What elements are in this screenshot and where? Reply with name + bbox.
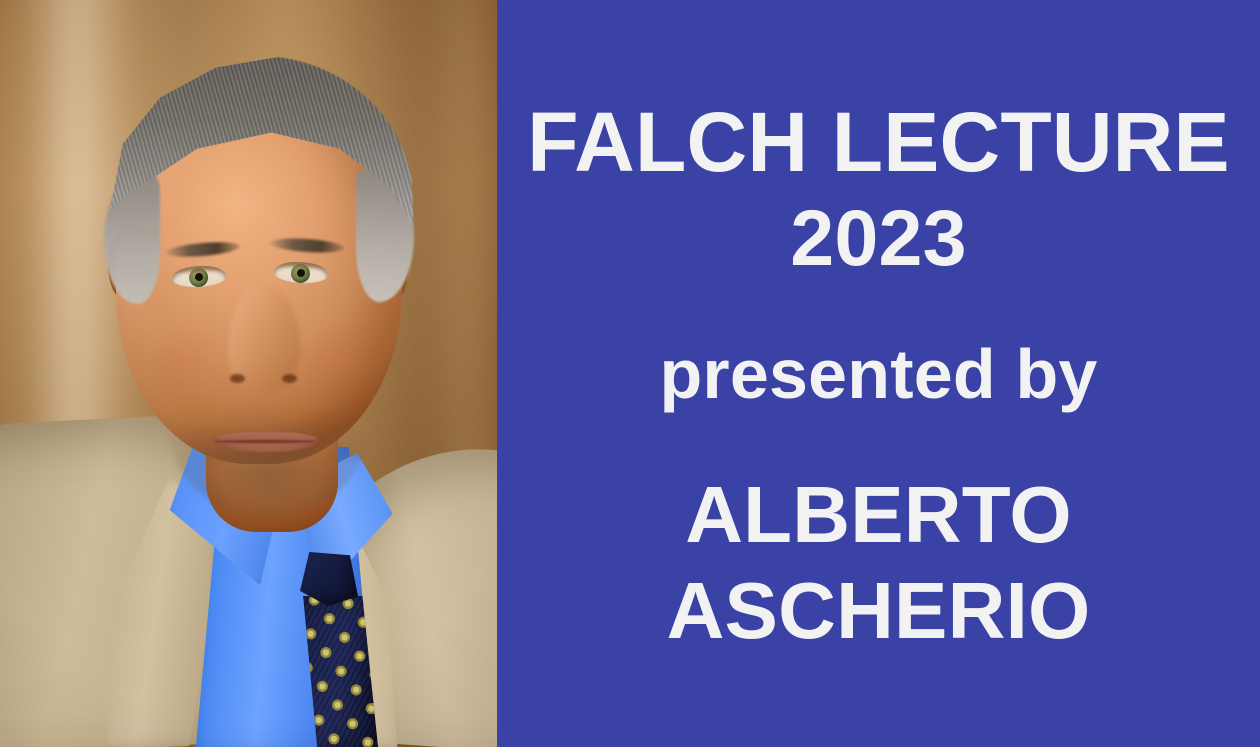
speaker-first-name: ALBERTO bbox=[497, 475, 1260, 555]
nostril-right bbox=[282, 374, 297, 383]
speaker-portrait-photo bbox=[0, 0, 497, 747]
speaker-last-name: ASCHERIO bbox=[497, 571, 1260, 651]
lecture-title: FALCH LECTURE bbox=[497, 100, 1260, 184]
cheek-right bbox=[300, 330, 372, 386]
lip-line bbox=[216, 440, 316, 443]
falch-lecture-banner: FALCH LECTURE 2023 presented by ALBERTO … bbox=[0, 0, 1260, 747]
presented-by-label: presented by bbox=[497, 339, 1260, 409]
lecture-info-panel: FALCH LECTURE 2023 presented by ALBERTO … bbox=[497, 0, 1260, 747]
cheek-left bbox=[150, 330, 222, 386]
nostril-left bbox=[230, 374, 245, 383]
lecture-year: 2023 bbox=[497, 198, 1260, 277]
